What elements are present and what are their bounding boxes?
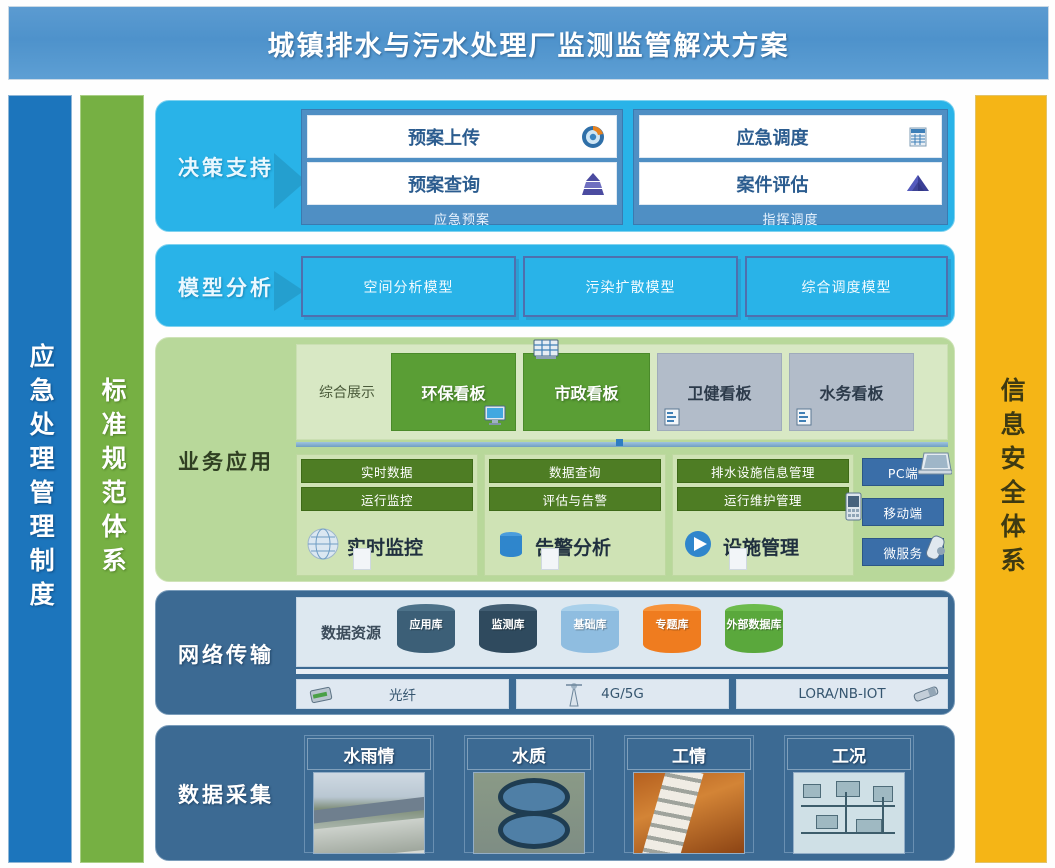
business-column-alarm: 数据查询 评估与告警 告警分析 bbox=[484, 454, 666, 576]
data-panel-working-condition-caption: 工况 bbox=[787, 738, 911, 770]
layer-data-acquisition: 数据采集 水雨情 水质 工情 工况 bbox=[155, 725, 955, 861]
fiber-cable-icon bbox=[307, 684, 337, 706]
board-water-affairs-label: 水务看板 bbox=[819, 380, 883, 404]
data-panel-water-quality[interactable]: 水质 bbox=[464, 735, 594, 853]
layer-decision-support: 决策支持 预案上传 预案查询 bbox=[155, 100, 955, 232]
boards-row: 综合展示 环保看板 市政看板 bbox=[296, 344, 948, 440]
layer-network-transmission: 网络传输 数据资源 应用库 监测库 基础库 专题库 bbox=[155, 590, 955, 715]
board-environment-label: 环保看板 bbox=[421, 380, 485, 404]
network-link-lora-nbiot[interactable]: LORA/NB-IOT bbox=[736, 679, 948, 709]
antenna-icon bbox=[559, 682, 589, 704]
diagram-canvas: 城镇排水与污水处理厂监测监管解决方案 应急处理管理制度 标准规范体系 信息安全体… bbox=[0, 0, 1055, 868]
database-external[interactable]: 外部数据库 bbox=[725, 604, 783, 660]
network-link-fiber-label: 光纤 bbox=[389, 684, 416, 704]
decision-item-plan-upload-label: 预案上传 bbox=[308, 124, 616, 150]
decision-group-emergency-plan-caption: 应急预案 bbox=[307, 209, 617, 228]
data-resource-panel: 数据资源 应用库 监测库 基础库 专题库 bbox=[296, 597, 948, 667]
pillar-information-security: 信息安全体系 bbox=[975, 95, 1047, 863]
business-tag-operation-monitoring[interactable]: 运行监控 bbox=[301, 487, 473, 511]
play-circle-icon bbox=[677, 524, 721, 568]
database-application-label: 应用库 bbox=[397, 618, 455, 631]
data-panel-engineering-status[interactable]: 工情 bbox=[624, 735, 754, 853]
page-title: 城镇排水与污水处理厂监测监管解决方案 bbox=[268, 24, 790, 63]
phone-device-icon bbox=[922, 534, 952, 562]
report-icon bbox=[794, 407, 814, 427]
model-item-spatial-analysis[interactable]: 空间分析模型 bbox=[301, 256, 516, 317]
database-monitoring-label: 监测库 bbox=[479, 618, 537, 631]
page-corner-decor bbox=[353, 548, 371, 570]
layer-business-application-label: 业务应用 bbox=[156, 338, 296, 583]
monitor-icon bbox=[483, 404, 507, 426]
board-health[interactable]: 卫健看板 bbox=[657, 353, 782, 431]
data-panel-water-rain[interactable]: 水雨情 bbox=[304, 735, 434, 853]
page-corner-decor bbox=[729, 548, 747, 570]
database-basic-label: 基础库 bbox=[561, 618, 619, 631]
network-link-lora-nbiot-label: LORA/NB-IOT bbox=[798, 686, 885, 702]
layer-model-analysis: 模型分析 空间分析模型 污染扩散模型 综合调度模型 bbox=[155, 244, 955, 327]
pyramid-3d-icon bbox=[905, 171, 931, 197]
network-link-fiber[interactable]: 光纤 bbox=[296, 679, 509, 709]
data-panel-engineering-status-image bbox=[633, 772, 745, 854]
model-item-integrated-dispatch[interactable]: 综合调度模型 bbox=[745, 256, 948, 317]
decision-item-emergency-dispatch-label: 应急调度 bbox=[640, 124, 941, 150]
globe-icon bbox=[301, 524, 345, 568]
page-title-bar: 城镇排水与污水处理厂监测监管解决方案 bbox=[8, 6, 1049, 80]
pillar-information-security-label: 信息安全体系 bbox=[998, 377, 1024, 581]
business-tag-data-query[interactable]: 数据查询 bbox=[489, 459, 661, 483]
pyramid-chart-icon bbox=[580, 171, 606, 197]
decision-item-plan-upload[interactable]: 预案上传 bbox=[307, 115, 617, 158]
pillar-emergency-management: 应急处理管理制度 bbox=[8, 95, 72, 863]
decision-group-command-dispatch: 应急调度 案件评估 bbox=[633, 109, 948, 225]
layer-network-transmission-label: 网络传输 bbox=[156, 591, 296, 716]
database-basic[interactable]: 基础库 bbox=[561, 604, 619, 660]
business-column-facility: 排水设施信息管理 运行维护管理 设施管理 bbox=[672, 454, 854, 576]
decision-group-command-dispatch-caption: 指挥调度 bbox=[639, 209, 942, 228]
business-footer-alarm-analysis[interactable]: 告警分析 bbox=[489, 515, 661, 577]
network-link-4g5g[interactable]: 4G/5G bbox=[516, 679, 729, 709]
network-link-4g5g-label: 4G/5G bbox=[601, 686, 644, 702]
database-thematic-label: 专题库 bbox=[643, 618, 701, 631]
data-panel-working-condition[interactable]: 工况 bbox=[784, 735, 914, 853]
board-municipal-label: 市政看板 bbox=[554, 380, 618, 404]
database-external-label: 外部数据库 bbox=[725, 618, 783, 631]
database-thematic[interactable]: 专题库 bbox=[643, 604, 701, 660]
business-tag-drainage-facility-info[interactable]: 排水设施信息管理 bbox=[677, 459, 849, 483]
board-environment[interactable]: 环保看板 bbox=[391, 353, 516, 431]
decision-item-plan-query-label: 预案查询 bbox=[308, 171, 616, 197]
database-icon bbox=[489, 524, 533, 568]
business-footer-facility-management[interactable]: 设施管理 bbox=[677, 515, 849, 577]
refresh-globe-icon bbox=[580, 124, 606, 150]
data-panel-engineering-status-caption: 工情 bbox=[627, 738, 751, 770]
business-tag-realtime-data[interactable]: 实时数据 bbox=[301, 459, 473, 483]
device-button-microservice-label: 微服务 bbox=[883, 543, 922, 562]
device-button-mobile-label: 移动端 bbox=[883, 503, 922, 522]
laptop-icon bbox=[918, 450, 952, 476]
mobile-phone-icon bbox=[842, 492, 866, 522]
decision-item-case-assessment[interactable]: 案件评估 bbox=[639, 162, 942, 205]
decision-item-emergency-dispatch[interactable]: 应急调度 bbox=[639, 115, 942, 158]
network-divider bbox=[296, 669, 948, 674]
page-corner-decor bbox=[541, 548, 559, 570]
layer-business-application: 业务应用 综合展示 环保看板 市政看板 bbox=[155, 337, 955, 582]
board-municipal[interactable]: 市政看板 bbox=[523, 353, 650, 431]
decision-item-plan-query[interactable]: 预案查询 bbox=[307, 162, 617, 205]
database-application[interactable]: 应用库 bbox=[397, 604, 455, 660]
data-panel-water-rain-caption: 水雨情 bbox=[307, 738, 431, 770]
board-health-label: 卫健看板 bbox=[687, 380, 751, 404]
data-resource-head-label: 数据资源 bbox=[305, 622, 397, 643]
business-tag-assessment-alarm[interactable]: 评估与告警 bbox=[489, 487, 661, 511]
business-tag-operation-maintenance[interactable]: 运行维护管理 bbox=[677, 487, 849, 511]
business-footer-realtime-monitoring[interactable]: 实时监控 bbox=[301, 515, 473, 577]
data-panel-working-condition-image bbox=[793, 772, 905, 854]
sensor-device-icon bbox=[911, 683, 941, 705]
layer-data-acquisition-label: 数据采集 bbox=[156, 726, 296, 862]
database-monitoring[interactable]: 监测库 bbox=[479, 604, 537, 660]
pillar-standards-system: 标准规范体系 bbox=[80, 95, 144, 863]
device-button-pc-label: PC端 bbox=[888, 463, 918, 482]
decision-group-emergency-plan: 预案上传 预案查询 bbox=[301, 109, 623, 225]
model-item-pollution-diffusion[interactable]: 污染扩散模型 bbox=[523, 256, 738, 317]
device-button-mobile[interactable]: 移动端 bbox=[862, 498, 944, 526]
boards-divider-marker bbox=[616, 439, 623, 446]
wedge-model bbox=[274, 271, 304, 311]
pillar-standards-system-label: 标准规范体系 bbox=[99, 377, 125, 581]
data-panel-water-rain-image bbox=[313, 772, 425, 854]
business-column-monitoring: 实时数据 运行监控 实时监控 bbox=[296, 454, 478, 576]
data-panel-water-quality-caption: 水质 bbox=[467, 738, 591, 770]
pillar-emergency-management-label: 应急处理管理制度 bbox=[27, 343, 53, 615]
report-icon bbox=[662, 407, 682, 427]
window-grid-icon bbox=[532, 338, 560, 362]
data-panel-water-quality-image bbox=[473, 772, 585, 854]
boards-head-label: 综合展示 bbox=[303, 382, 391, 402]
grid-table-icon bbox=[905, 124, 931, 150]
board-water-affairs[interactable]: 水务看板 bbox=[789, 353, 914, 431]
decision-item-case-assessment-label: 案件评估 bbox=[640, 171, 941, 197]
